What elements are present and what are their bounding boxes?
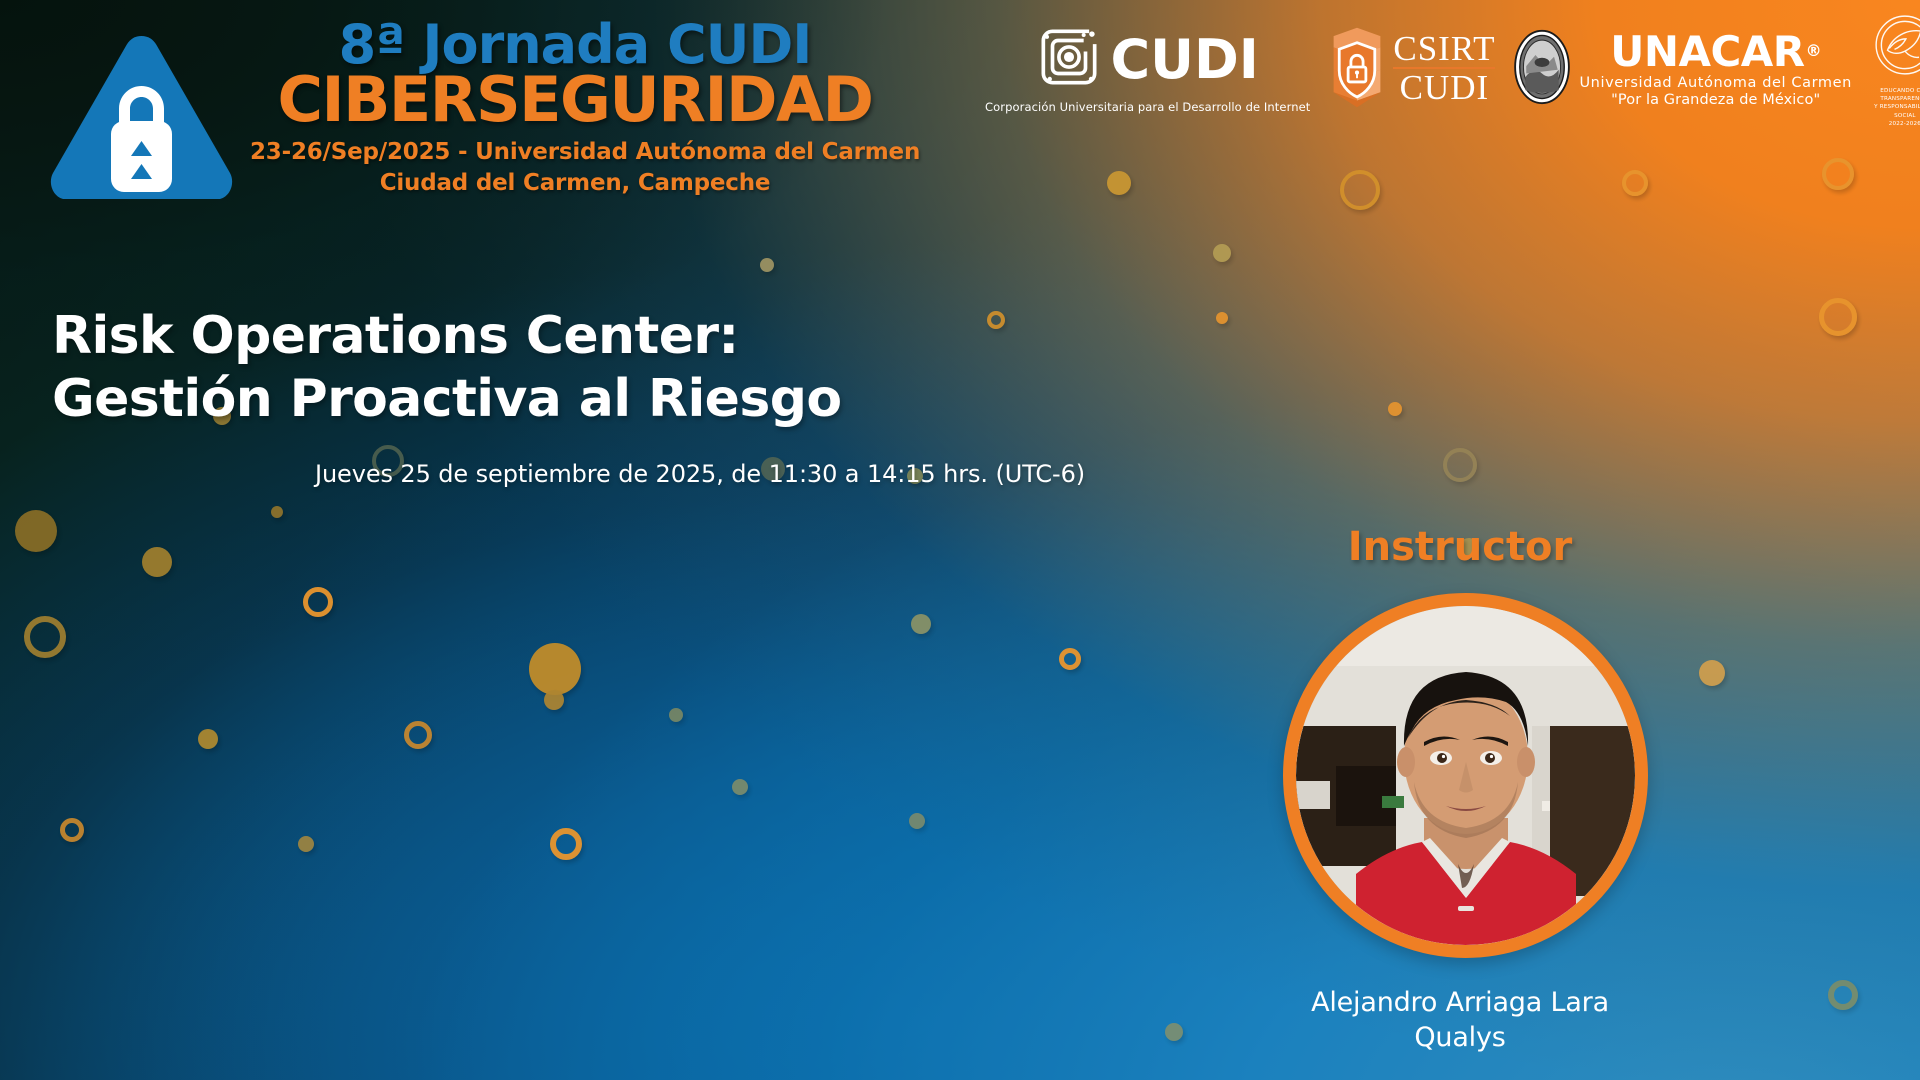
instructor-name: Alejandro Arriaga Lara — [1170, 985, 1750, 1020]
cudi-tagline: Corporación Universitaria para el Desarr… — [985, 100, 1310, 114]
logo-unacar: UNACAR ® Universidad Autónoma del Carmen… — [1513, 29, 1851, 110]
event-title-block: 8ª Jornada CUDI CIBERSEGURIDAD 23-26/Sep… — [250, 18, 900, 199]
event-dates-venue: 23-26/Sep/2025 - Universidad Autónoma de… — [250, 137, 900, 168]
background-dot — [1699, 660, 1725, 686]
unacar-seal-icon — [1513, 29, 1571, 110]
logo-csirt-cudi: CSIRT CUDI — [1328, 24, 1495, 115]
background-dot — [550, 828, 582, 860]
background-dot — [529, 643, 581, 695]
background-dot — [1828, 980, 1858, 1010]
instructor-avatar — [1283, 593, 1648, 958]
cudi-circuit-icon — [1036, 24, 1102, 95]
background-dot — [271, 506, 283, 518]
csirt-line1: CSIRT — [1393, 32, 1495, 69]
background-dot — [544, 690, 564, 710]
dolphin-caption-line3: 2022-2026 — [1870, 120, 1920, 128]
background-dot — [909, 813, 925, 829]
session-title-line1: Risk Operations Center: — [52, 305, 841, 368]
unacar-registered-mark: ® — [1806, 43, 1822, 59]
unacar-subtitle: Universidad Autónoma del Carmen — [1579, 75, 1851, 91]
csirt-shield-lock-icon — [1328, 24, 1386, 115]
session-title-line2: Gestión Proactiva al Riesgo — [52, 368, 841, 431]
unacar-wordmark: UNACAR — [1610, 31, 1804, 73]
padlock-shield-icon — [44, 28, 239, 208]
dolphin-caption: EDUCANDO CON TRANSPARENCIA Y RESPONSABIL… — [1870, 87, 1920, 128]
background-dot — [24, 616, 66, 658]
dolphin-caption-line2: Y RESPONSABILIDAD SOCIAL — [1870, 103, 1920, 119]
logo-cudi: CUDI Corporación Universitaria para el D… — [985, 24, 1310, 114]
background-dot — [760, 258, 774, 272]
background-dot — [404, 721, 432, 749]
instructor-label: Instructor — [1170, 524, 1750, 570]
event-header-banner: 8ª Jornada CUDI CIBERSEGURIDAD 23-26/Sep… — [0, 0, 1920, 235]
background-dot — [198, 729, 218, 749]
unacar-motto: "Por la Grandeza de México" — [1611, 92, 1820, 108]
dolphin-circle-icon — [1870, 10, 1920, 85]
background-dot — [142, 547, 172, 577]
background-dot — [911, 614, 931, 634]
background-dot — [732, 779, 748, 795]
logo-dolphin-program: EDUCANDO CON TRANSPARENCIA Y RESPONSABIL… — [1870, 10, 1920, 128]
background-dot — [1819, 298, 1857, 336]
background-dot — [669, 708, 683, 722]
background-dot — [60, 818, 84, 842]
poster-canvas: 8ª Jornada CUDI CIBERSEGURIDAD 23-26/Sep… — [0, 0, 1920, 1080]
session-schedule: Jueves 25 de septiembre de 2025, de 11:3… — [0, 460, 1400, 488]
event-topic: CIBERSEGURIDAD — [250, 68, 900, 131]
background-dot — [1443, 448, 1477, 482]
background-dot — [303, 587, 333, 617]
background-dot — [987, 311, 1005, 329]
background-dot — [298, 836, 314, 852]
instructor-company: Qualys — [1170, 1020, 1750, 1055]
background-dot — [1216, 312, 1228, 324]
session-title: Risk Operations Center: Gestión Proactiv… — [52, 305, 841, 432]
background-dot — [1059, 648, 1081, 670]
dolphin-caption-line1: EDUCANDO CON TRANSPARENCIA — [1870, 87, 1920, 103]
sponsor-logo-row: CUDI Corporación Universitaria para el D… — [985, 14, 1920, 124]
background-dot — [1388, 402, 1402, 416]
event-city: Ciudad del Carmen, Campeche — [250, 168, 900, 199]
background-dot — [15, 510, 57, 552]
background-dot — [1213, 244, 1231, 262]
cudi-wordmark: CUDI — [1110, 33, 1258, 87]
instructor-photo — [1296, 606, 1635, 945]
csirt-line2: CUDI — [1400, 69, 1490, 107]
instructor-info: Alejandro Arriaga Lara Qualys — [1170, 985, 1750, 1055]
